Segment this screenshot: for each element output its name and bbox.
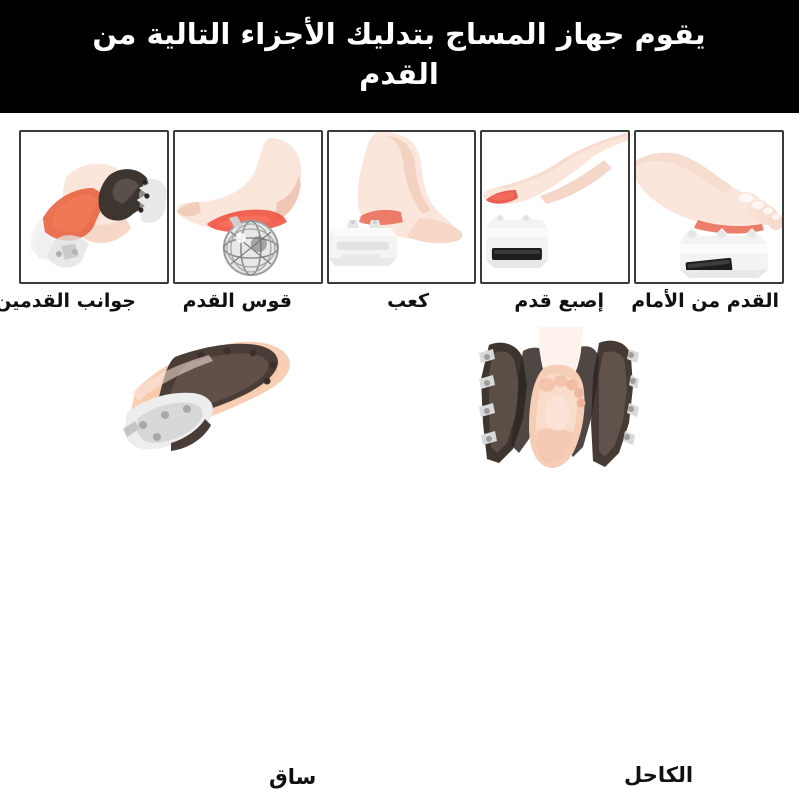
bottom-row: ساق الكاحل (0, 325, 800, 500)
label-toe: إصبع قدم (515, 288, 605, 314)
label-ankle: الكاحل (625, 763, 694, 787)
feet-in-massager-sides-highlight-illustration (22, 132, 168, 282)
panel-strip (20, 130, 785, 284)
foot-arch-roller-ball-illustration (176, 132, 322, 282)
ankle-massager-illustration (480, 327, 640, 477)
panel-toe (481, 130, 631, 284)
panel-label-row: جوانب القدمين قوس القدم كعب إصبع قدم الق… (0, 288, 800, 318)
panel-heel (328, 130, 478, 284)
label-foot-front: القدم من الأمام (632, 288, 780, 314)
label-sides-of-feet: جوانب القدمين (0, 288, 137, 314)
header-bar: يقوم جهاز المساج بتدليك الأجزاء التالية … (0, 0, 800, 113)
calf-in-massager-illustration (118, 333, 293, 458)
label-heel: كعب (388, 288, 430, 314)
label-foot-arch: قوس القدم (184, 288, 293, 314)
panel-arch (174, 130, 324, 284)
panel-sides (20, 130, 170, 284)
foot-front-on-massage-pad-illustration (637, 132, 783, 282)
label-leg: ساق (270, 765, 317, 789)
toe-above-massage-pad-illustration (483, 132, 629, 282)
panel-front (635, 130, 785, 284)
page-title: يقوم جهاز المساج بتدليك الأجزاء التالية … (60, 15, 740, 93)
heel-on-massage-pad-illustration (330, 132, 476, 282)
